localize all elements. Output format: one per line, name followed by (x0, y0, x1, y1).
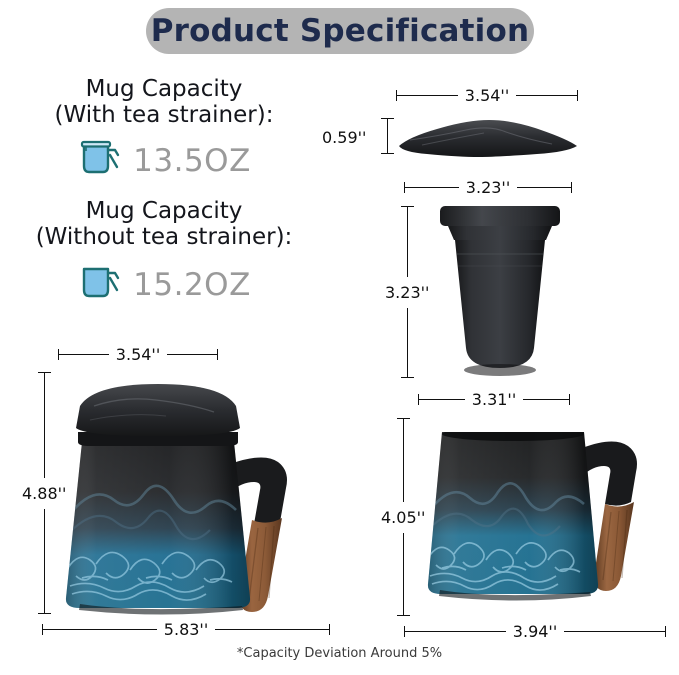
mug-with-lid-illustration (34, 372, 354, 625)
capacity-with-strainer-label-line1: Mug Capacity (14, 76, 314, 102)
lid-width-label: 3.54'' (458, 86, 516, 105)
mug-with-lid-top-width-dimension: 3.54'' (58, 345, 218, 364)
mug-with-lid-bottom-width-dimension: 5.83'' (42, 620, 330, 639)
strainer-illustration (424, 202, 576, 385)
page-title-banner: Product Specification (146, 8, 534, 54)
strainer-height-label: 3.23'' (385, 277, 429, 308)
capacity-with-strainer-block: Mug Capacity (With tea strainer): 13.5OZ (14, 76, 314, 184)
strainer-height-dimension: 3.23'' (385, 206, 429, 378)
capacity-with-strainer-label-line2: (With tea strainer): (14, 102, 314, 128)
mug-without-lid-illustration (398, 418, 679, 623)
teapot-icon (77, 137, 123, 184)
capacity-deviation-note: *Capacity Deviation Around 5% (0, 646, 679, 661)
mug-with-lid-top-width-label: 3.54'' (109, 345, 167, 364)
mug-without-lid-bottom-width-dimension: 3.94'' (404, 622, 666, 641)
mug-without-lid-bottom-width-label: 3.94'' (506, 622, 564, 641)
mug-icon (77, 261, 123, 308)
page-title: Product Specification (151, 13, 530, 49)
lid-height-dimension (381, 118, 394, 154)
mug-with-lid-bottom-width-label: 5.83'' (157, 620, 215, 639)
capacity-with-strainer-value: 13.5OZ (133, 143, 251, 179)
capacity-without-strainer-value: 15.2OZ (133, 267, 251, 303)
mug-without-lid-top-width-label: 3.31'' (465, 390, 523, 409)
capacity-without-strainer-block: Mug Capacity (Without tea strainer): 15.… (14, 198, 314, 308)
lid-height-label: 0.59'' (322, 128, 366, 147)
lid-illustration (396, 112, 580, 163)
lid-width-dimension: 3.54'' (396, 86, 578, 105)
capacity-without-strainer-label-line1: Mug Capacity (14, 198, 314, 224)
mug-without-lid-top-width-dimension: 3.31'' (418, 390, 570, 409)
strainer-width-label: 3.23'' (459, 178, 517, 197)
strainer-width-dimension: 3.23'' (404, 178, 572, 197)
capacity-without-strainer-label-line2: (Without tea strainer): (14, 224, 314, 250)
